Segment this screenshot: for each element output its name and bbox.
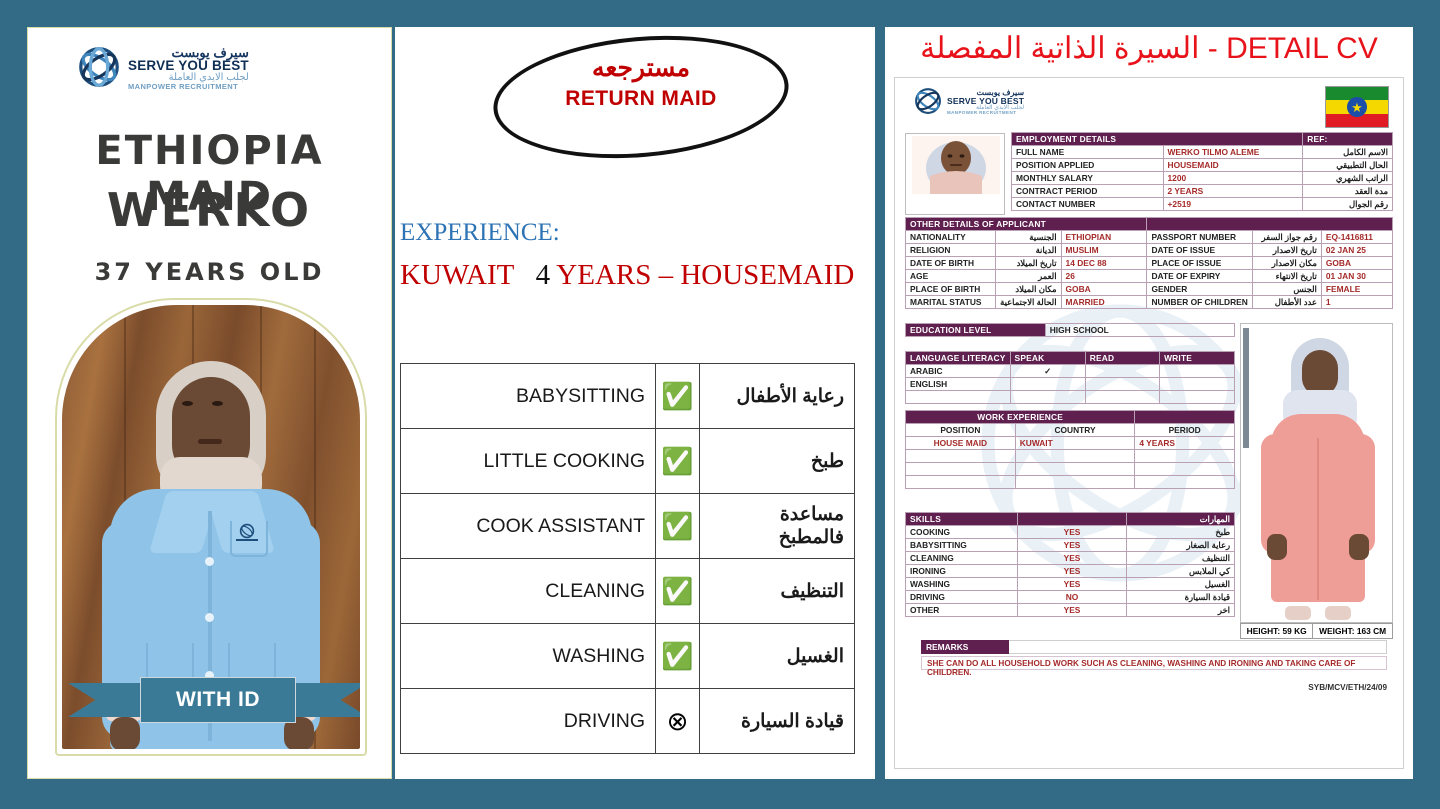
middle-panel: مسترجعه RETURN MAID EXPERIENCE: KUWAIT 4…	[395, 27, 875, 779]
profile-photo: WITH ID	[62, 305, 360, 749]
check-circle-icon: ✅	[656, 429, 700, 494]
language-col-header: SPEAK	[1010, 352, 1085, 365]
language-name: ENGLISH	[906, 378, 1011, 391]
work-period	[1135, 463, 1235, 476]
cv-skill-row: CLEANINGYESالتنظيف	[906, 552, 1235, 565]
skill-label-en: CLEANING	[401, 559, 656, 624]
employment-label: CONTACT NUMBER	[1012, 198, 1164, 211]
logo-english-name: SERVE YOU BEST	[128, 59, 249, 73]
detail-value: 26	[1061, 270, 1147, 283]
detail-label-2: DATE OF EXPIRY	[1147, 270, 1252, 283]
language-row	[906, 391, 1235, 404]
detail-label: AGE	[906, 270, 996, 283]
cv-skill-value: YES	[1017, 526, 1127, 539]
cv-skill-name: BABYSITTING	[906, 539, 1018, 552]
work-row: HOUSE MAIDKUWAIT4 YEARS	[906, 437, 1235, 450]
check-circle-icon: ✅	[656, 494, 700, 559]
with-id-label: WITH ID	[140, 677, 296, 723]
cv-skill-name-ar: رعاية الصغار	[1127, 539, 1235, 552]
cv-skills-header-en: SKILLS	[906, 513, 1018, 526]
detail-label-2-ar: تاريخ الاصدار	[1252, 244, 1321, 257]
skill-row: LITTLE COOKING✅طبخ	[401, 429, 855, 494]
employment-label-ar: الراتب الشهري	[1303, 172, 1393, 185]
detail-value: GOBA	[1061, 283, 1147, 296]
language-speak: ✓	[1010, 365, 1085, 378]
skill-row: DRIVING⊗قيادة السيارة	[401, 689, 855, 754]
profile-photo-frame: WITH ID	[55, 298, 367, 756]
employment-label-ar: مدة العقد	[1303, 185, 1393, 198]
language-literacy-table: LANGUAGE LITERACYSPEAKREADWRITE ARABIC✓E…	[905, 351, 1235, 404]
detail-label-2-ar: مكان الاصدار	[1252, 257, 1321, 270]
ethiopia-flag-icon: ★	[1325, 86, 1389, 128]
work-period	[1135, 476, 1235, 489]
employment-label: MONTHLY SALARY	[1012, 172, 1164, 185]
detail-value-2: EQ-1416811	[1321, 231, 1392, 244]
detail-label-ar: العمر	[996, 270, 1061, 283]
detail-value: MUSLIM	[1061, 244, 1147, 257]
employment-row: CONTACT NUMBER+2519رقم الجوال	[1012, 198, 1393, 211]
employment-label-ar: الحال التطبيقي	[1303, 159, 1393, 172]
work-country	[1015, 476, 1135, 489]
uniform-logo-icon	[234, 523, 260, 545]
employment-value: 2 YEARS	[1163, 185, 1303, 198]
detail-label-ar: الديانة	[996, 244, 1061, 257]
detail-value: MARRIED	[1061, 296, 1147, 309]
document-reference: SYB/MCV/ETH/24/09	[1308, 683, 1387, 692]
other-details-table: OTHER DETAILS OF APPLICANT NATIONALITYال…	[905, 217, 1393, 309]
detail-value-2: GOBA	[1321, 257, 1392, 270]
employment-label-ar: الاسم الكامل	[1303, 146, 1393, 159]
language-col-header: WRITE	[1160, 352, 1235, 365]
skill-row: CLEANING✅التنظيف	[401, 559, 855, 624]
language-row: ENGLISH	[906, 378, 1235, 391]
check-circle-icon: ✅	[656, 624, 700, 689]
cv-skill-value: YES	[1017, 604, 1127, 617]
detail-label-ar: الحالة الاجتماعية	[996, 296, 1061, 309]
cv-skill-name: IRONING	[906, 565, 1018, 578]
skill-label-ar: مساعدة فالمطبخ	[700, 494, 855, 559]
cv-skill-row: BABYSITTINGYESرعاية الصغار	[906, 539, 1235, 552]
employment-row: POSITION APPLIEDHOUSEMAIDالحال التطبيقي	[1012, 159, 1393, 172]
cv-skill-name-ar: اخر	[1127, 604, 1235, 617]
cross-circle-icon: ⊗	[656, 689, 700, 754]
detail-label-ar: مكان الميلاد	[996, 283, 1061, 296]
detail-value: ETHIOPIAN	[1061, 231, 1147, 244]
detail-value-2: FEMALE	[1321, 283, 1392, 296]
logo-arabic-tagline: لجلب الايدي العاملة	[128, 73, 249, 83]
cv-skill-row: WASHINGYESالغسيل	[906, 578, 1235, 591]
cv-skills-table: SKILLS المهارات COOKINGYESطبخBABYSITTING…	[905, 512, 1235, 617]
cv-skill-name-ar: قيادة السيارة	[1127, 591, 1235, 604]
logo-english-name: SERVE YOU BEST	[947, 97, 1024, 106]
other-details-header: OTHER DETAILS OF APPLICANT	[906, 218, 1147, 231]
cv-skill-row: DRIVINGNOقيادة السيارة	[906, 591, 1235, 604]
language-name: ARABIC	[906, 365, 1011, 378]
logo-english-tagline: MANPOWER RECRUITMENT	[947, 111, 1024, 116]
skill-label-ar: قيادة السيارة	[700, 689, 855, 754]
cv-skill-name: DRIVING	[906, 591, 1018, 604]
employment-value: 1200	[1163, 172, 1303, 185]
employment-label: CONTRACT PERIOD	[1012, 185, 1164, 198]
cv-skill-row: IRONINGYESكي الملابس	[906, 565, 1235, 578]
detail-label-ar: تاريخ الميلاد	[996, 257, 1061, 270]
remarks-text: SHE CAN DO ALL HOUSEHOLD WORK SUCH AS CL…	[921, 656, 1387, 670]
work-country	[1015, 450, 1135, 463]
weight-value: WEIGHT: 163 CM	[1313, 624, 1393, 639]
work-position	[906, 463, 1016, 476]
cv-skill-name: COOKING	[906, 526, 1018, 539]
work-position	[906, 476, 1016, 489]
work-country	[1015, 463, 1135, 476]
other-details-row: MARITAL STATUSالحالة الاجتماعيةMARRIEDNU…	[906, 296, 1393, 309]
education-value: HIGH SCHOOL	[1045, 324, 1234, 337]
employment-row: MONTHLY SALARY1200الراتب الشهري	[1012, 172, 1393, 185]
detail-label-ar: الجنسية	[996, 231, 1061, 244]
experience-years: 4	[536, 259, 551, 291]
language-speak	[1010, 378, 1085, 391]
education-header: EDUCATION LEVEL	[906, 324, 1046, 337]
work-row	[906, 463, 1235, 476]
measurements-table: HEIGHT: 59 KG WEIGHT: 163 CM	[1240, 623, 1393, 639]
employment-row: CONTRACT PERIOD2 YEARSمدة العقد	[1012, 185, 1393, 198]
detail-label-2: GENDER	[1147, 283, 1252, 296]
passport-photo	[905, 133, 1005, 215]
experience-label: EXPERIENCE:	[400, 219, 560, 247]
detail-label-2-ar: عدد الأطفال	[1252, 296, 1321, 309]
cv-skill-row: OTHERYESاخر	[906, 604, 1235, 617]
work-experience-table: WORK EXPERIENCE POSITIONCOUNTRYPERIOD HO…	[905, 410, 1235, 489]
language-read	[1085, 378, 1159, 391]
detail-label: DATE OF BIRTH	[906, 257, 996, 270]
experience-country: KUWAIT	[400, 259, 514, 291]
employment-value: +2519	[1163, 198, 1303, 211]
other-details-row: DATE OF BIRTHتاريخ الميلاد14 DEC 88PLACE…	[906, 257, 1393, 270]
cv-skill-value: YES	[1017, 565, 1127, 578]
detail-value-2: 01 JAN 30	[1321, 270, 1392, 283]
check-circle-icon: ✅	[656, 559, 700, 624]
work-position: HOUSE MAID	[906, 437, 1016, 450]
work-col-header: PERIOD	[1135, 424, 1235, 437]
cv-skill-name: OTHER	[906, 604, 1018, 617]
full-body-photo	[1240, 323, 1393, 623]
company-logo: سيرف يوبست SERVE YOU BEST لجلب الايدي ال…	[76, 32, 256, 102]
ref-label: REF:	[1303, 133, 1393, 146]
experience-detail: KUWAIT 4 YEARS – HOUSEMAID	[400, 259, 854, 292]
cv-skill-value: YES	[1017, 578, 1127, 591]
employment-label: FULL NAME	[1012, 146, 1164, 159]
cv-skill-name-ar: الغسيل	[1127, 578, 1235, 591]
employment-row: FULL NAMEWERKO TILMO ALEMEالاسم الكامل	[1012, 146, 1393, 159]
work-experience-header: WORK EXPERIENCE	[906, 411, 1135, 424]
detail-label-2: PASSPORT NUMBER	[1147, 231, 1252, 244]
applicant-headshot	[912, 136, 1000, 194]
experience-rest: YEARS – HOUSEMAID	[556, 259, 854, 291]
other-details-row: PLACE OF BIRTHمكان الميلادGOBAGENDERالجن…	[906, 283, 1393, 296]
other-details-row: RELIGIONالديانةMUSLIMDATE OF ISSUEتاريخ …	[906, 244, 1393, 257]
cv-skill-name: WASHING	[906, 578, 1018, 591]
remarks-header: REMARKS	[921, 640, 1009, 654]
work-row	[906, 450, 1235, 463]
profile-card: سيرف يوبست SERVE YOU BEST لجلب الايدي ال…	[27, 27, 392, 779]
employment-header: EMPLOYMENT DETAILS	[1012, 133, 1303, 146]
skills-checklist-table: BABYSITTING✅رعاية الأطفالLITTLE COOKING✅…	[400, 363, 855, 754]
cv-skill-name-ar: طبخ	[1127, 526, 1235, 539]
skill-row: BABYSITTING✅رعاية الأطفال	[401, 364, 855, 429]
cv-document: سيرف يوبست SERVE YOU BEST لجلب الايدي ال…	[894, 77, 1404, 769]
work-col-header: COUNTRY	[1015, 424, 1135, 437]
employment-value: WERKO TILMO ALEME	[1163, 146, 1303, 159]
detail-label-2: NUMBER OF CHILDREN	[1147, 296, 1252, 309]
employment-label-ar: رقم الجوال	[1303, 198, 1393, 211]
detail-label: MARITAL STATUS	[906, 296, 996, 309]
detail-label: PLACE OF BIRTH	[906, 283, 996, 296]
employment-label: POSITION APPLIED	[1012, 159, 1164, 172]
work-row	[906, 476, 1235, 489]
cv-skills-header-ar: المهارات	[1127, 513, 1235, 526]
age-heading: 37 YEARS OLD	[28, 258, 391, 286]
detail-label-2-ar: تاريخ الانتهاء	[1252, 270, 1321, 283]
language-read	[1085, 391, 1159, 404]
check-circle-icon: ✅	[656, 364, 700, 429]
detail-label-2-ar: رقم جواز السفر	[1252, 231, 1321, 244]
skill-label-ar: طبخ	[700, 429, 855, 494]
detail-label-2: DATE OF ISSUE	[1147, 244, 1252, 257]
skill-label-ar: رعاية الأطفال	[700, 364, 855, 429]
return-maid-english: RETURN MAID	[493, 87, 789, 111]
employment-value: HOUSEMAID	[1163, 159, 1303, 172]
skill-label-en: WASHING	[401, 624, 656, 689]
detail-value-2: 1	[1321, 296, 1392, 309]
cv-company-logo: سيرف يوبست SERVE YOU BEST لجلب الايدي ال…	[913, 86, 1024, 116]
language-row: ARABIC✓	[906, 365, 1235, 378]
serve-you-best-logo-icon	[913, 86, 943, 116]
return-maid-arabic: مسترجعه	[493, 53, 789, 83]
cv-skill-value: YES	[1017, 539, 1127, 552]
cv-skill-name-ar: كي الملابس	[1127, 565, 1235, 578]
detail-label-2: PLACE OF ISSUE	[1147, 257, 1252, 270]
detail-value: 14 DEC 88	[1061, 257, 1147, 270]
skill-label-en: DRIVING	[401, 689, 656, 754]
cv-skill-name-ar: التنظيف	[1127, 552, 1235, 565]
applicant-full-body-figure	[1255, 338, 1379, 620]
detail-label: RELIGION	[906, 244, 996, 257]
cv-skill-row: COOKINGYESطبخ	[906, 526, 1235, 539]
cv-title: DETAIL CV - السيرة الذاتية المفصلة	[885, 31, 1413, 66]
maid-name-heading: WERKO	[28, 183, 391, 237]
height-ruler	[1243, 328, 1249, 448]
cv-panel: DETAIL CV - السيرة الذاتية المفصلة	[885, 27, 1413, 779]
cv-skill-value: NO	[1017, 591, 1127, 604]
language-col-header: READ	[1085, 352, 1159, 365]
work-period	[1135, 450, 1235, 463]
skill-label-ar: التنظيف	[700, 559, 855, 624]
language-write	[1160, 365, 1235, 378]
cv-skill-name: CLEANING	[906, 552, 1018, 565]
language-read	[1085, 365, 1159, 378]
language-col-header: LANGUAGE LITERACY	[906, 352, 1011, 365]
language-name	[906, 391, 1011, 404]
skill-row: COOK ASSISTANT✅مساعدة فالمطبخ	[401, 494, 855, 559]
language-write	[1160, 391, 1235, 404]
detail-label: NATIONALITY	[906, 231, 996, 244]
detail-value-2: 02 JAN 25	[1321, 244, 1392, 257]
language-speak	[1010, 391, 1085, 404]
work-period: 4 YEARS	[1135, 437, 1235, 450]
detail-label-2-ar: الجنس	[1252, 283, 1321, 296]
other-details-row: NATIONALITYالجنسيةETHIOPIANPASSPORT NUMB…	[906, 231, 1393, 244]
employment-details-table: EMPLOYMENT DETAILS REF: FULL NAMEWERKO T…	[1011, 132, 1393, 211]
skill-label-ar: الغسيل	[700, 624, 855, 689]
logo-english-tagline: MANPOWER RECRUITMENT	[128, 83, 249, 91]
return-maid-stamp: مسترجعه RETURN MAID	[493, 53, 789, 111]
cv-skill-value: YES	[1017, 552, 1127, 565]
with-id-ribbon: WITH ID	[68, 677, 360, 723]
work-country: KUWAIT	[1015, 437, 1135, 450]
work-position	[906, 450, 1016, 463]
skill-label-en: COOK ASSISTANT	[401, 494, 656, 559]
height-value: HEIGHT: 59 KG	[1241, 624, 1313, 639]
other-details-row: AGEالعمر26DATE OF EXPIRYتاريخ الانتهاء01…	[906, 270, 1393, 283]
skill-row: WASHING✅الغسيل	[401, 624, 855, 689]
skill-label-en: BABYSITTING	[401, 364, 656, 429]
education-table: EDUCATION LEVEL HIGH SCHOOL	[905, 323, 1235, 337]
work-col-header: POSITION	[906, 424, 1016, 437]
language-write	[1160, 378, 1235, 391]
serve-you-best-logo-icon	[76, 44, 122, 90]
skill-label-en: LITTLE COOKING	[401, 429, 656, 494]
